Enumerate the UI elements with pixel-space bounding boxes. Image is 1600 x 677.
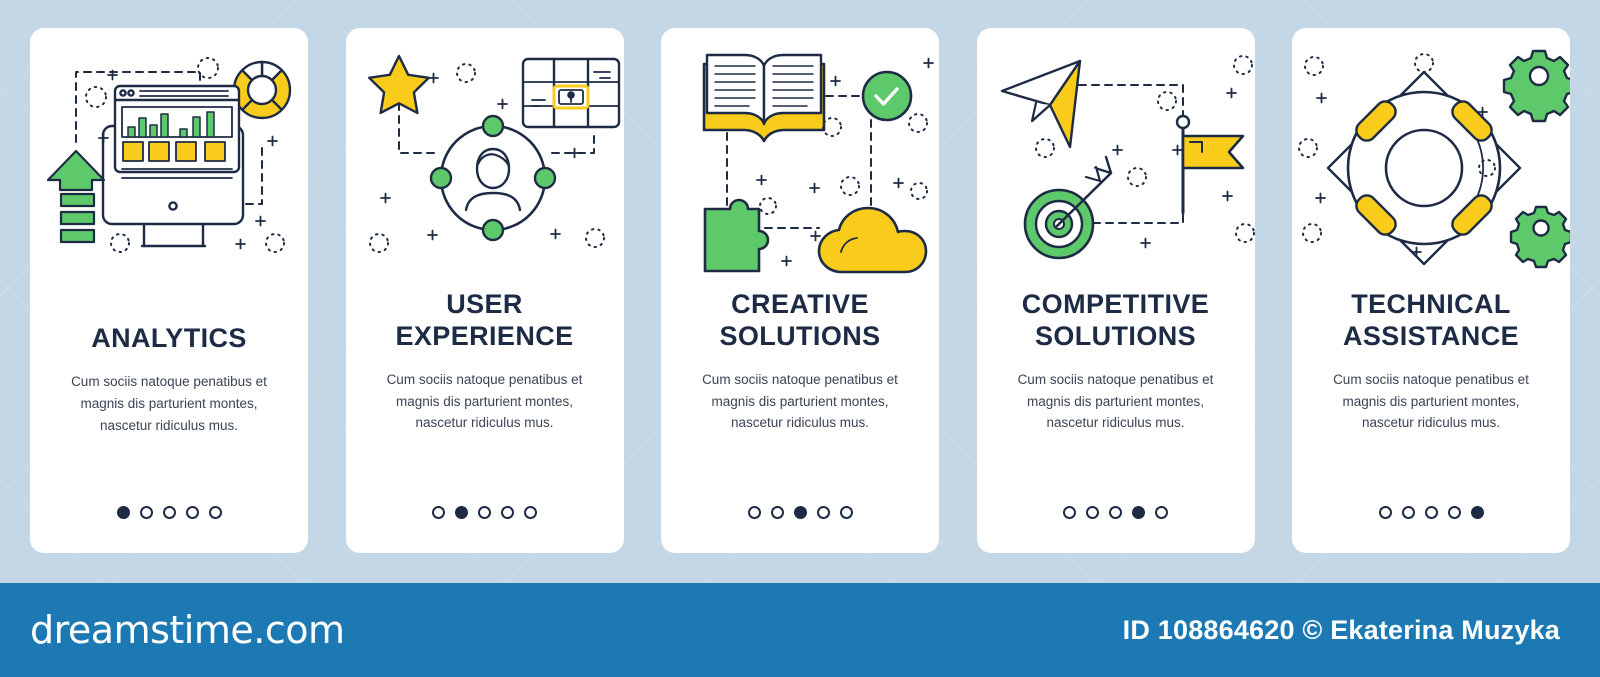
- pagination-dot-2[interactable]: [771, 506, 784, 519]
- paper-plane-target-flag-icon: [977, 28, 1255, 283]
- pagination-dot-2[interactable]: [1086, 506, 1099, 519]
- pagination-dot-1[interactable]: [1063, 506, 1076, 519]
- pagination-dot-2[interactable]: [455, 506, 468, 519]
- pagination-dots[interactable]: [346, 506, 624, 519]
- pagination-dot-1[interactable]: [117, 506, 130, 519]
- pagination-dot-3[interactable]: [794, 506, 807, 519]
- pagination-dots[interactable]: [30, 506, 308, 519]
- pagination-dot-3[interactable]: [1109, 506, 1122, 519]
- card-body: Cum sociis natoque penatibus et magnis d…: [688, 369, 913, 435]
- card-body: Cum sociis natoque penatibus et magnis d…: [1319, 369, 1544, 435]
- pagination-dot-1[interactable]: [1379, 506, 1392, 519]
- book-puzzle-cloud-icon: [661, 28, 939, 283]
- pagination-dot-2[interactable]: [140, 506, 153, 519]
- pagination-dot-5[interactable]: [209, 506, 222, 519]
- lifebuoy-gears-icon: [1292, 28, 1570, 283]
- card-competitive-solutions[interactable]: COMPETITIVE SOLUTIONS Cum sociis natoque…: [977, 28, 1255, 553]
- pagination-dots[interactable]: [977, 506, 1255, 519]
- pagination-dot-4[interactable]: [186, 506, 199, 519]
- card-user-experience[interactable]: USER EXPERIENCE Cum sociis natoque penat…: [346, 28, 624, 553]
- watermark-footer: dreamstime.com ID 108864620 © Ekaterina …: [0, 583, 1600, 677]
- pagination-dot-3[interactable]: [478, 506, 491, 519]
- user-avatar-network-icon: [346, 28, 624, 283]
- pagination-dot-1[interactable]: [748, 506, 761, 519]
- card-body: Cum sociis natoque penatibus et magnis d…: [1003, 369, 1228, 435]
- card-title: CREATIVE SOLUTIONS: [675, 289, 925, 353]
- card-body: Cum sociis natoque penatibus et magnis d…: [372, 369, 597, 435]
- pagination-dots[interactable]: [1292, 506, 1570, 519]
- pagination-dot-1[interactable]: [432, 506, 445, 519]
- pagination-dot-5[interactable]: [840, 506, 853, 519]
- pagination-dot-4[interactable]: [501, 506, 514, 519]
- card-title: COMPETITIVE SOLUTIONS: [991, 289, 1241, 353]
- card-body: Cum sociis natoque penatibus et magnis d…: [57, 371, 282, 437]
- card-title: ANALYTICS: [44, 323, 294, 355]
- pagination-dot-5[interactable]: [524, 506, 537, 519]
- card-title: USER EXPERIENCE: [360, 289, 610, 353]
- card-title: TECHNICAL ASSISTANCE: [1306, 289, 1556, 353]
- pagination-dot-4[interactable]: [1132, 506, 1145, 519]
- analytics-monitor-chart-icon: [30, 28, 308, 283]
- card-creative-solutions[interactable]: CREATIVE SOLUTIONS Cum sociis natoque pe…: [661, 28, 939, 553]
- image-credit: ID 108864620 © Ekaterina Muzyka: [1123, 615, 1560, 646]
- pagination-dots[interactable]: [661, 506, 939, 519]
- pagination-dot-3[interactable]: [1425, 506, 1438, 519]
- dreamstime-logo-text: dreamstime.com: [30, 608, 344, 652]
- card-analytics[interactable]: ANALYTICS Cum sociis natoque penatibus e…: [30, 28, 308, 553]
- card-technical-assistance[interactable]: TECHNICAL ASSISTANCE Cum sociis natoque …: [1292, 28, 1570, 553]
- pagination-dot-2[interactable]: [1402, 506, 1415, 519]
- dreamstime-logo[interactable]: dreamstime.com: [30, 608, 344, 652]
- pagination-dot-4[interactable]: [1448, 506, 1461, 519]
- pagination-dot-3[interactable]: [163, 506, 176, 519]
- pagination-dot-5[interactable]: [1155, 506, 1168, 519]
- pagination-dot-4[interactable]: [817, 506, 830, 519]
- pagination-dot-5[interactable]: [1471, 506, 1484, 519]
- card-carousel: ANALYTICS Cum sociis natoque penatibus e…: [0, 0, 1600, 583]
- screenshot-canvas: ANALYTICS Cum sociis natoque penatibus e…: [0, 0, 1600, 677]
